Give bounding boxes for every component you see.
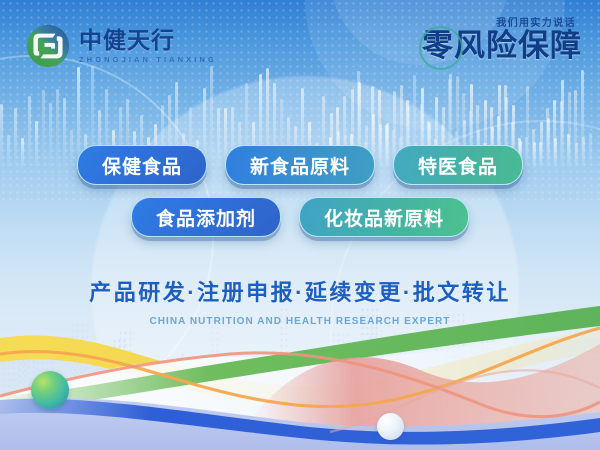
service-pill-10[interactable]: 食品添加剂 [131,197,281,237]
service-pill-label: 化妆品新原料 [324,204,444,231]
service-pill-label: 保健食品 [102,152,182,179]
service-pill-2[interactable]: 特医食品 [393,145,523,185]
slogan-title: 零风险保障 [422,30,582,61]
service-pill-row: 保健食品新食品原料特医食品 [0,145,600,185]
service-pill-11[interactable]: 化妆品新原料 [299,197,469,237]
slogan-ring-decoration [419,26,463,70]
service-pill-list: 保健食品新食品原料特医食品食品添加剂化妆品新原料 [0,145,600,249]
brand-logo[interactable]: 中健天行 ZHONGJIAN TIANXING [26,24,217,68]
white-sphere [377,413,404,440]
bottom-wave-graphics [0,300,600,450]
service-pill-label: 新食品原料 [250,152,350,179]
service-pill-label: 特医食品 [418,152,498,179]
brand-name-cn: 中健天行 [79,28,217,52]
green-blue-sphere [31,371,69,409]
promo-banner: 中健天行 ZHONGJIAN TIANXING 我们用实力说话 零风险保障 保健… [0,0,600,450]
service-pill-1[interactable]: 新食品原料 [225,145,375,185]
service-pill-row: 食品添加剂化妆品新原料 [0,197,600,237]
service-pill-0[interactable]: 保健食品 [77,145,207,185]
slogan-block: 我们用实力说话 零风险保障 [422,14,582,61]
service-pill-label: 食品添加剂 [156,204,256,231]
zhongjian-tianxing-logo-mark-icon [26,24,70,68]
brand-name-en: ZHONGJIAN TIANXING [79,55,217,64]
